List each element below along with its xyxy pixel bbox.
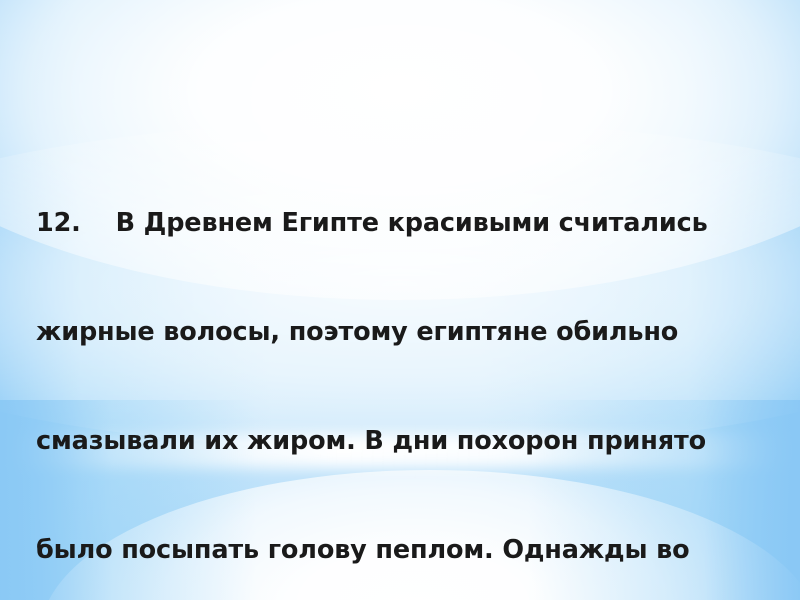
slide-canvas: 12. В Древнем Египте красивыми считались…: [0, 0, 800, 600]
text-line-4: было посыпать голову пеплом. Однажды во: [36, 532, 766, 568]
text-line-3: смазывали их жиром. В дни похорон принят…: [36, 423, 766, 459]
slide-body-text: 12. В Древнем Египте красивыми считались…: [36, 132, 766, 600]
text-line-2: жирные волосы, поэтому египтяне обильно: [36, 314, 766, 350]
text-line-1: 12. В Древнем Египте красивыми считались: [36, 205, 766, 241]
